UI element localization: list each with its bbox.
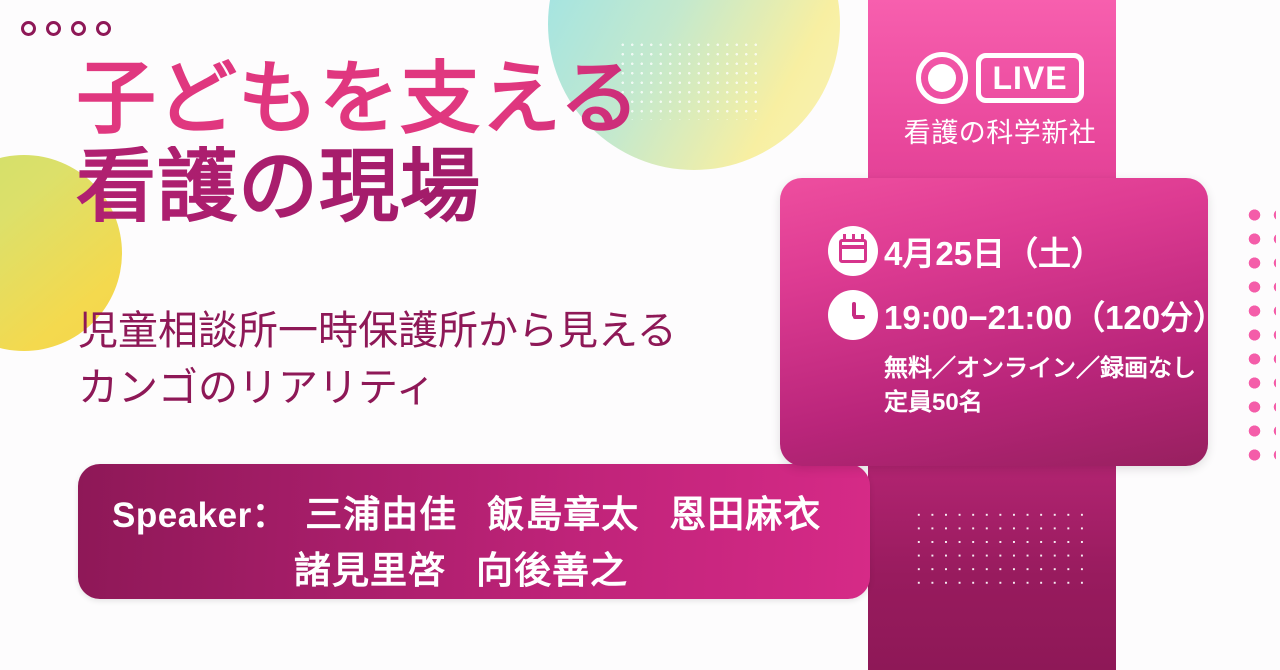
speaker-name: 三浦由佳 <box>305 484 457 538</box>
event-notes: 無料／オンライン／録画なし 定員50名 <box>884 352 1190 420</box>
event-date-row: 4月25日（土） <box>828 226 1190 276</box>
event-poster: 子どもを支える 看護の現場 児童相談所一時保護所から見える カンゴのリアリティ … <box>0 0 1280 670</box>
speaker-name: 向後善之 <box>476 540 628 594</box>
ring-icon <box>71 21 86 36</box>
event-note: 無料／オンライン／録画なし <box>884 352 1190 386</box>
event-time: 19:00−21:00（120分） <box>884 291 1226 339</box>
edge-dot-pattern <box>1242 203 1276 467</box>
speaker-name: 諸見里啓 <box>294 540 446 594</box>
record-dot <box>928 64 956 92</box>
headline-line-2: 看護の現場 <box>76 146 776 228</box>
speaker-row: 諸見里啓 向後善之 <box>112 540 846 594</box>
event-info-rows: 4月25日（土） 19:00−21:00（120分） 無料／オンライン／録画なし… <box>828 226 1190 420</box>
speaker-bar: Speaker： 三浦由佳 飯島章太 恩田麻衣 諸見里啓 向後善之 <box>78 464 870 599</box>
calendar-icon-wrap <box>828 226 884 276</box>
event-date: 4月25日（土） <box>884 227 1104 275</box>
publisher-name: 看護の科学新社 <box>900 111 1100 150</box>
speaker-label: Speaker： <box>112 487 287 538</box>
speaker-name: 恩田麻衣 <box>669 484 821 538</box>
ring-icon <box>96 21 111 36</box>
subtitle-line-2: カンゴのリアリティ <box>78 360 798 417</box>
speaker-content: Speaker： 三浦由佳 飯島章太 恩田麻衣 諸見里啓 向後善之 <box>112 484 846 594</box>
page-subtitle: 児童相談所一時保護所から見える カンゴのリアリティ <box>78 303 798 417</box>
live-badge-block: LIVE 看護の科学新社 <box>900 52 1100 150</box>
live-label: LIVE <box>992 62 1067 94</box>
clock-icon-wrap <box>828 290 884 340</box>
corner-rings-decoration <box>21 21 111 36</box>
calendar-teeth <box>843 234 864 240</box>
headline-line-1: 子どもを支える <box>76 58 776 140</box>
event-info-card: 4月25日（土） 19:00−21:00（120分） 無料／オンライン／録画なし… <box>780 178 1208 466</box>
speaker-row: Speaker： 三浦由佳 飯島章太 恩田麻衣 <box>112 484 846 538</box>
page-title: 子どもを支える 看護の現場 <box>76 58 776 227</box>
clock-icon <box>828 290 878 340</box>
speaker-name: 飯島章太 <box>487 484 639 538</box>
event-time-row: 19:00−21:00（120分） <box>828 290 1190 340</box>
ring-icon <box>46 21 61 36</box>
ring-icon <box>21 21 36 36</box>
live-badge: LIVE <box>900 52 1100 104</box>
event-note: 定員50名 <box>884 386 1190 420</box>
subtitle-line-1: 児童相談所一時保護所から見える <box>78 303 798 360</box>
record-circle-icon <box>916 52 968 104</box>
clock-minute-hand <box>853 315 865 319</box>
calendar-icon <box>828 226 878 276</box>
live-pill: LIVE <box>976 53 1083 103</box>
panel-dot-pattern <box>912 508 1092 586</box>
